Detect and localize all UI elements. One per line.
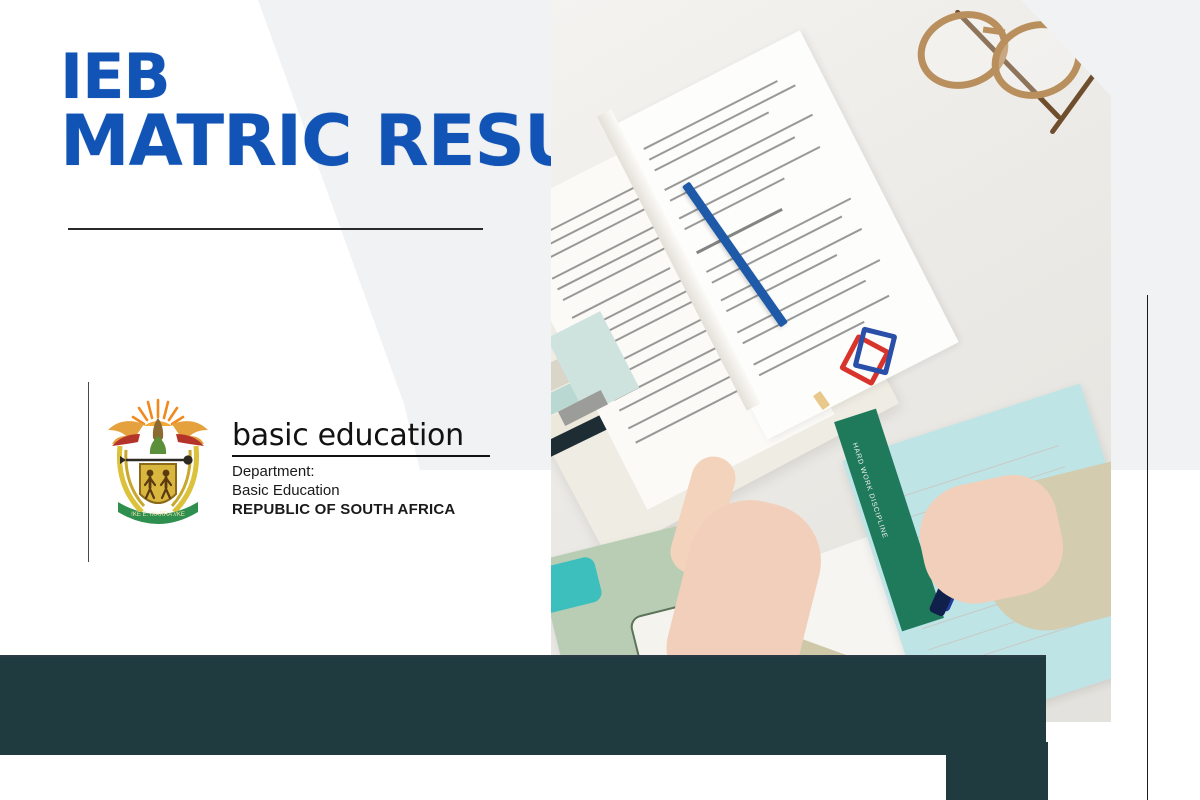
right-divider-rule [1147,295,1148,800]
title-underline-rule [68,228,483,230]
logo-title-underline [232,455,490,457]
hero-photo-content: HARD WORK DISCIPLINE [551,0,1111,722]
department-logo: !KE E: /XARRA //KE basic education Depar… [100,390,490,542]
poster-canvas: IEB MATRIC RESULTS [0,0,1200,800]
bottom-band-right [946,742,1048,800]
logo-text-block: basic education Department: Basic Educat… [232,420,490,519]
hero-photo: HARD WORK DISCIPLINE [551,0,1111,722]
logo-subtitle-country: REPUBLIC OF SOUTH AFRICA [232,500,490,519]
bottom-band-left [0,657,1046,755]
coat-of-arms-motto: !KE E: /XARRA //KE [131,512,185,518]
logo-title: basic education [232,420,490,452]
south-african-coat-of-arms-icon: !KE E: /XARRA //KE [100,390,216,542]
logo-subtitle-department: Department: [232,462,490,481]
logo-divider-rule [88,382,89,562]
logo-subtitle-name: Basic Education [232,481,490,500]
